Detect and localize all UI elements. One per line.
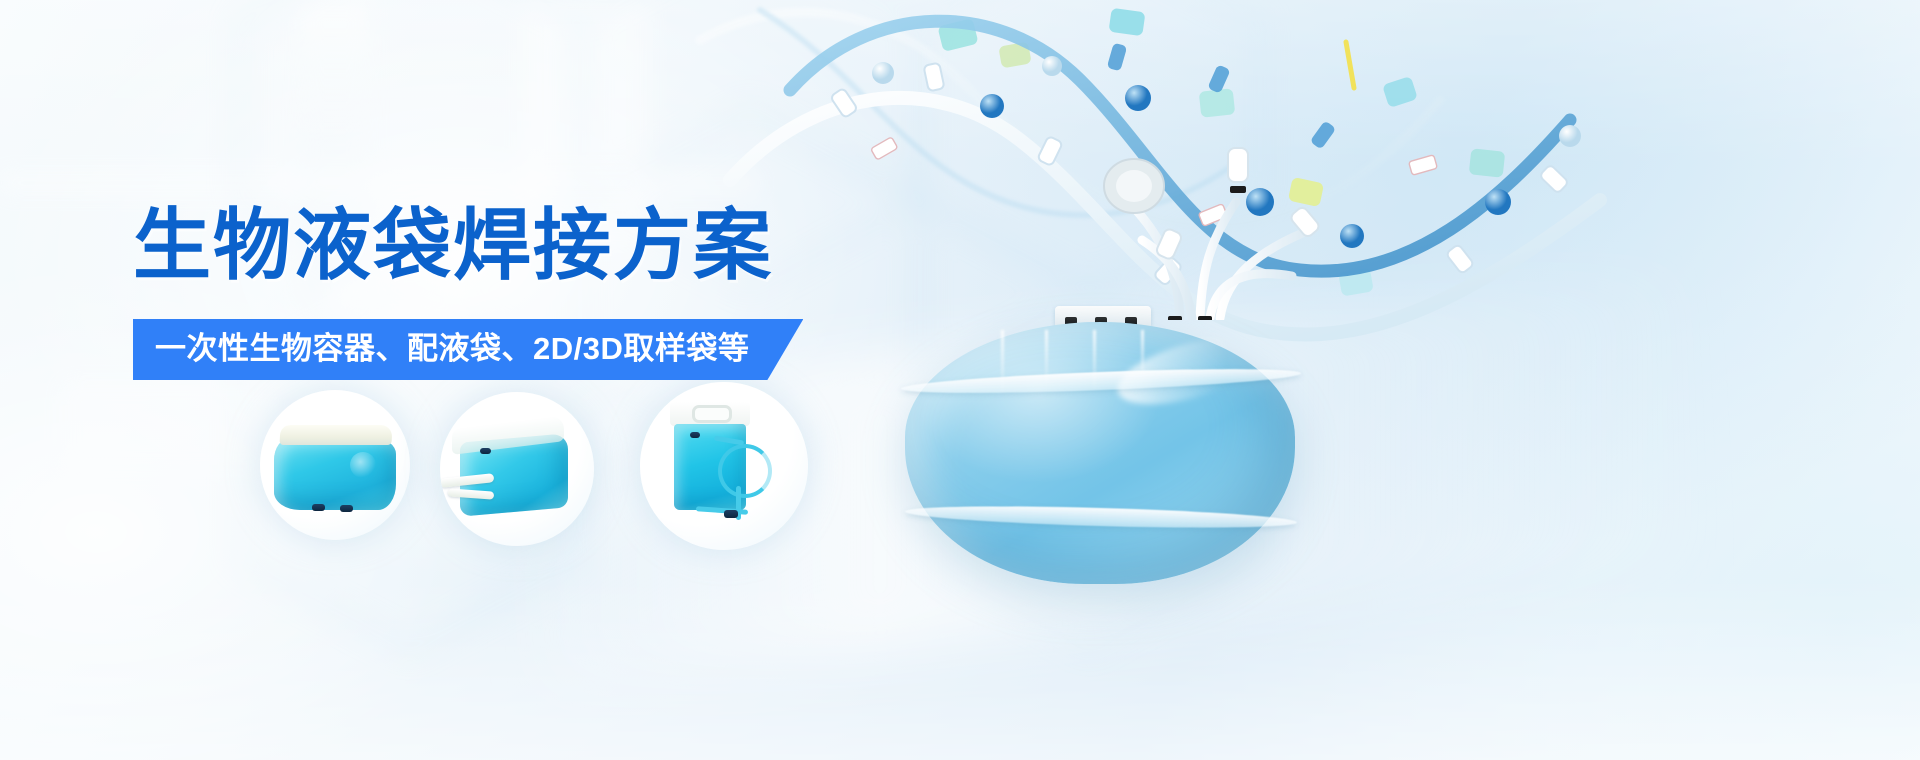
product-circle-pillow-bag[interactable]	[260, 390, 410, 540]
pillow-bag-port	[312, 504, 325, 511]
sampling-bag-tube-loop	[718, 444, 772, 498]
page-title: 生物液袋焊接方案	[133, 206, 803, 284]
subtitle-banner: 一次性生物容器、配液袋、2D/3D取样袋等	[133, 319, 803, 380]
product-circle-cube-bag[interactable]	[440, 392, 594, 546]
subtitle-text: 一次性生物容器、配液袋、2D/3D取样袋等	[133, 319, 803, 380]
product-circle-sampling-bag[interactable]	[640, 382, 808, 550]
headline-block: 生物液袋焊接方案 一次性生物容器、配液袋、2D/3D取样袋等	[133, 206, 803, 380]
cube-bag-port	[480, 448, 491, 454]
pillow-bag-image	[274, 438, 396, 510]
sampling-bag-port	[690, 432, 700, 438]
sampling-bag-handle	[692, 405, 732, 423]
hero-banner: 生物液袋焊接方案 一次性生物容器、配液袋、2D/3D取样袋等	[0, 0, 1920, 760]
bioreactor-bag-image	[905, 300, 1295, 600]
sampling-bag-connector	[724, 510, 738, 518]
pillow-bag-port	[340, 505, 353, 512]
